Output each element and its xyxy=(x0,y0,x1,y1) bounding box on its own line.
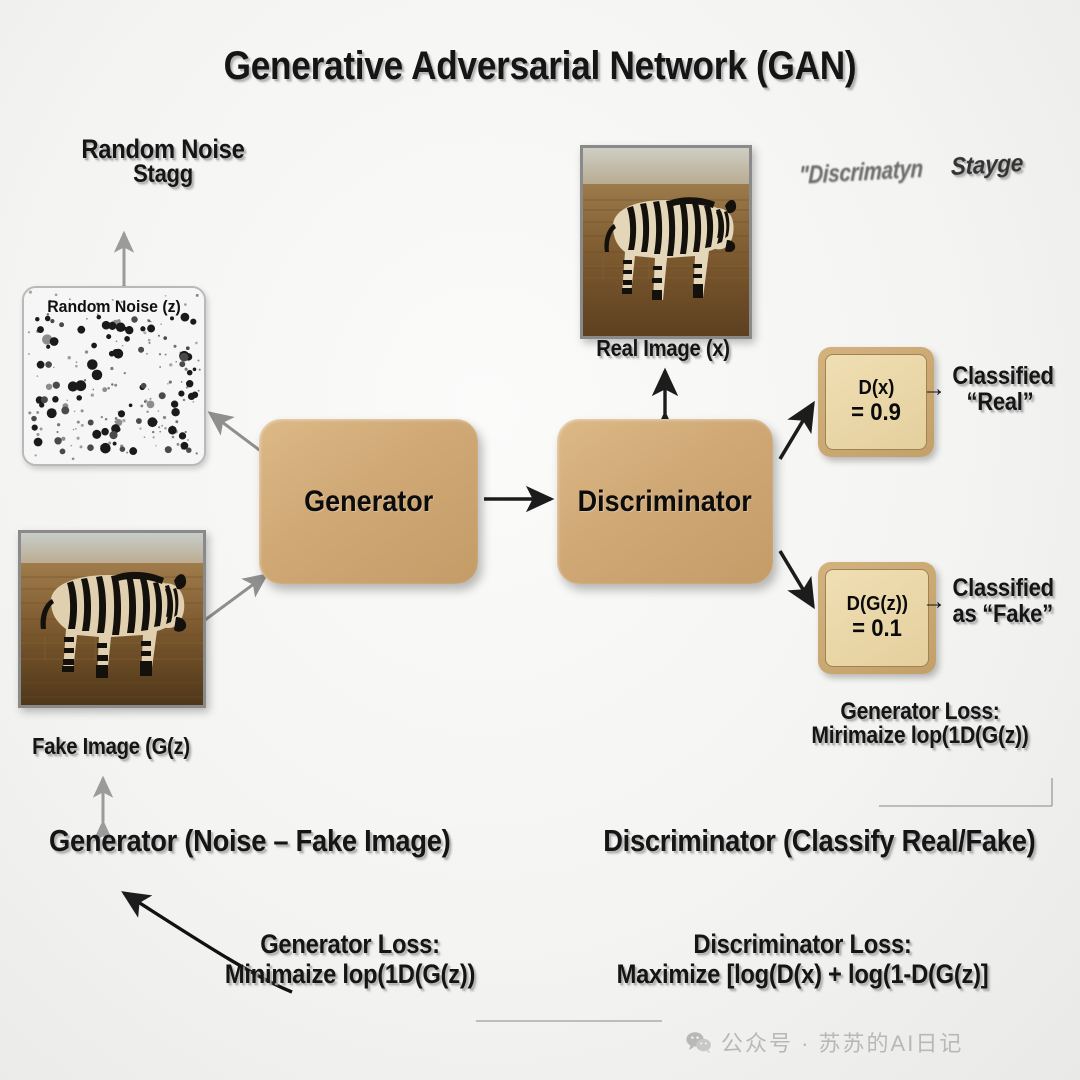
discriminator-block[interactable]: Discriminator xyxy=(557,419,773,584)
discriminator-loss-bottom-line2: Maximize [log(D(x) + log(1-D(G(z)] xyxy=(594,960,1012,990)
generator-loss-right-line2: Mirimaize lop(1D(G(z)) xyxy=(788,724,1052,748)
page-title-text: Generative Adversarial Network (GAN) xyxy=(224,46,857,87)
discriminator-section-label: Discriminator (Classify Real/Fake) xyxy=(603,825,1017,857)
generator-block[interactable]: Generator xyxy=(259,419,478,584)
watermark: 公众号 · 苏苏的AI日记 xyxy=(686,1026,963,1058)
generator-loss-right-line1: Generator Loss: xyxy=(840,698,999,725)
watermark-text: 公众号 · 苏苏的AI日记 xyxy=(721,1026,963,1058)
zebra-illustration xyxy=(583,148,749,336)
dgz-score-value: = 0.1 xyxy=(852,615,902,643)
page-title: Generative Adversarial Network (GAN) xyxy=(65,46,1015,87)
dx-score-box: D(x) = 0.9 xyxy=(818,347,934,457)
zebra-illustration xyxy=(21,533,203,705)
classified-real-label: Classified “Real” xyxy=(952,363,1075,415)
right-arrow-icon: → xyxy=(922,375,946,403)
classified-fake-line1: Classified xyxy=(953,575,1078,601)
right-arrow-icon: → xyxy=(922,588,946,616)
random-noise-box: Random Noise (z) xyxy=(22,286,206,466)
classified-fake-label: Classified as “Fake” xyxy=(953,575,1078,627)
discriminator-stage-garbled: "Discrimatyn xyxy=(798,157,923,190)
discriminator-stage-label: "Discrimatyn Stayge xyxy=(784,147,1055,191)
discriminator-loss-bottom: Discriminator Loss: Maximize [log(D(x) +… xyxy=(594,930,1012,989)
generator-loss-bottom-line1: Generator Loss: xyxy=(174,930,526,960)
real-image-caption: Real Image (x) xyxy=(562,337,764,360)
real-image-thumbnail xyxy=(580,145,752,339)
generator-section-label: Generator (Noise – Fake Image) xyxy=(49,825,445,857)
classified-fake-line2: as “Fake” xyxy=(953,601,1078,627)
dgz-score-expression: D(G(z)) xyxy=(846,593,907,616)
dgz-score-box: D(G(z)) = 0.1 xyxy=(818,562,936,674)
generator-block-label: Generator xyxy=(304,485,433,519)
random-noise-stage-line2: Stagg xyxy=(53,162,273,188)
generator-loss-bottom: Generator Loss: Minimaize lop(1D(G(z)) xyxy=(174,930,526,989)
dx-score-expression: D(x) xyxy=(858,377,894,400)
diagram-canvas: Generative Adversarial Network (GAN) Ran… xyxy=(0,0,1080,1080)
random-noise-stage-label: Random Noise Stagg xyxy=(53,136,273,187)
dx-score-value: = 0.9 xyxy=(851,399,901,427)
classified-real-line1: Classified xyxy=(952,363,1075,389)
classified-real-line2: “Real” xyxy=(952,389,1047,415)
fake-image-thumbnail xyxy=(18,530,206,708)
random-noise-box-caption: Random Noise (z) xyxy=(30,297,197,317)
generator-loss-bottom-line2: Minimaize lop(1D(G(z)) xyxy=(174,960,526,990)
fake-image-caption: Fake Image (G(z) xyxy=(13,735,208,758)
discriminator-block-label: Discriminator xyxy=(578,485,752,519)
discriminator-stage-clean: Stayge xyxy=(951,151,1024,181)
wechat-icon xyxy=(686,1031,712,1053)
generator-loss-right: Generator Loss: Mirimaize lop(1D(G(z)) xyxy=(788,700,1052,749)
discriminator-loss-bottom-line1: Discriminator Loss: xyxy=(594,930,1012,960)
